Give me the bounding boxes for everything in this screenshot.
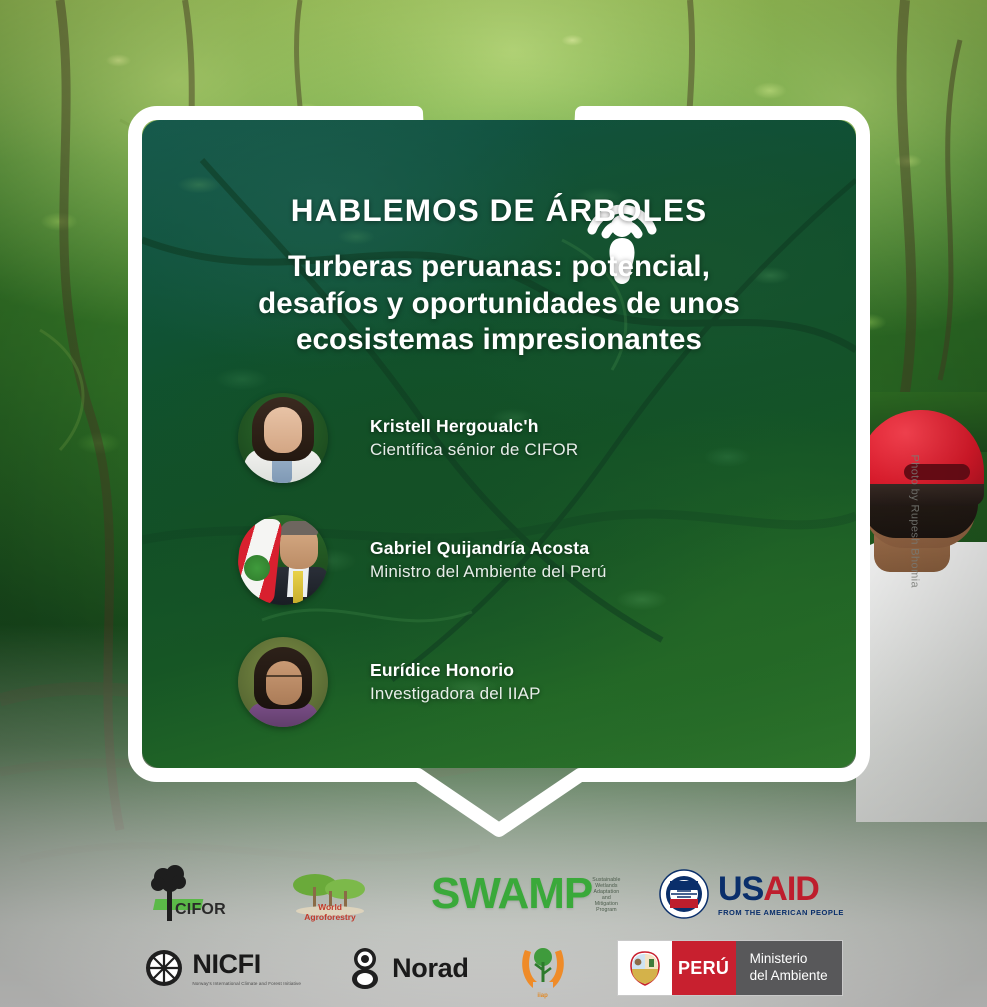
- show-title: HABLEMOS DE ÁRBOLES: [168, 192, 830, 229]
- usaid-seal-icon: [659, 869, 709, 919]
- speaker-name: Kristell Hergoualc'h: [370, 416, 578, 437]
- partner-logos-row-2: NICFI Norway's International Climate and…: [0, 932, 987, 1004]
- nicfi-globe-icon: [144, 948, 184, 988]
- cifor-label: CIFOR: [175, 901, 226, 919]
- speaker-name: Gabriel Quijandría Acosta: [370, 538, 607, 559]
- peru-coat-of-arms-icon: [618, 941, 672, 995]
- speaker-role: Científica sénior de CIFOR: [370, 440, 578, 460]
- photo-credit: Photo by Rupesh Bhomia: [909, 454, 921, 588]
- peru-label: PERÚ: [672, 941, 736, 995]
- episode-title-line-3: ecosistemas impresionantes: [168, 322, 830, 359]
- speech-bubble-card: HABLEMOS DE ÁRBOLES Turberas peruanas: p…: [128, 106, 870, 826]
- logo-norad: Norad: [347, 946, 469, 990]
- logo-minam: PERÚ Ministerio del Ambiente: [617, 940, 843, 996]
- speaker-role: Ministro del Ambiente del Perú: [370, 562, 607, 582]
- logo-nicfi: NICFI Norway's International Climate and…: [144, 948, 301, 988]
- speaker-list: Kristell Hergoualc'h Científica sénior d…: [168, 393, 830, 759]
- podcast-promo-poster: Photo by Rupesh Bhomia: [0, 0, 987, 1007]
- logo-cifor: CIFOR: [143, 863, 229, 925]
- speaker-item: Gabriel Quijandría Acosta Ministro del A…: [168, 515, 830, 605]
- usaid-label: USAID: [718, 872, 844, 906]
- ministerio-label: Ministerio del Ambiente: [736, 941, 842, 995]
- iiap-label: iiap: [515, 993, 571, 999]
- swamp-tagline: Sustainable Wetlands Adaptation and Miti…: [592, 877, 620, 913]
- iiap-hands-plant-icon: [515, 940, 571, 996]
- episode-title-line-1: Turberas peruanas: potencial,: [168, 249, 830, 286]
- avatar-gabriel-quijandria-acosta: [238, 515, 328, 605]
- partner-logos-row-1: CIFOR WorldAgroforestry SWAMP Sustainabl…: [0, 860, 987, 928]
- avatar-euridice-honorio: [238, 637, 328, 727]
- logo-usaid: USAID FROM THE AMERICAN PEOPLE: [659, 869, 844, 919]
- logo-world-agroforestry: WorldAgroforestry: [287, 863, 373, 925]
- usaid-tagline: FROM THE AMERICAN PEOPLE: [718, 908, 844, 917]
- norad-label: Norad: [392, 953, 469, 984]
- speaker-item: Eurídice Honorio Investigadora del IIAP: [168, 637, 830, 727]
- logo-iiap: iiap: [515, 937, 571, 999]
- norad-emblem-icon: [347, 946, 383, 990]
- episode-title-line-2: desafíos y oportunidades de unos: [168, 286, 830, 323]
- swamp-label: SWAMP: [431, 872, 592, 916]
- speaker-item: Kristell Hergoualc'h Científica sénior d…: [168, 393, 830, 483]
- logo-swamp: SWAMP Sustainable Wetlands Adaptation an…: [431, 865, 601, 923]
- avatar-kristell-hergoualch: [238, 393, 328, 483]
- agroforestry-label: WorldAgroforestry: [287, 903, 373, 923]
- episode-title: Turberas peruanas: potencial, desafíos y…: [168, 249, 830, 359]
- nicfi-label: NICFI: [192, 951, 301, 978]
- speaker-name: Eurídice Honorio: [370, 660, 541, 681]
- nicfi-tagline: Norway's International Climate and Fores…: [192, 981, 301, 986]
- card-content: HABLEMOS DE ÁRBOLES Turberas peruanas: p…: [142, 120, 856, 768]
- speaker-role: Investigadora del IIAP: [370, 684, 541, 704]
